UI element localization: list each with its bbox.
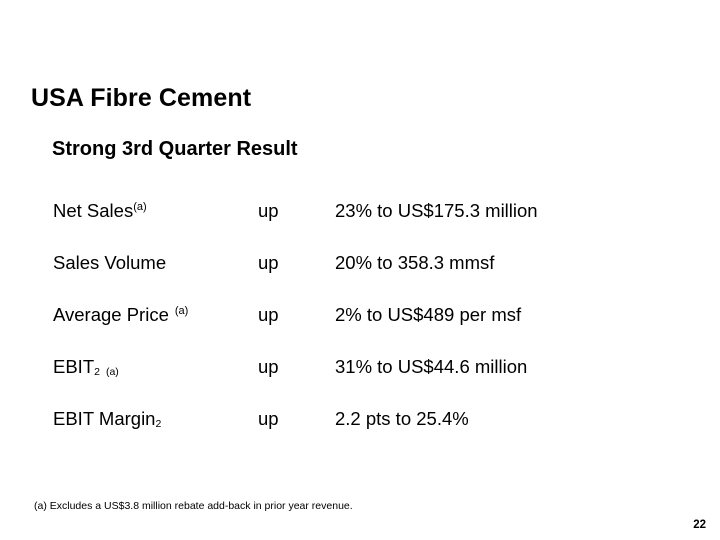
table-row: EBIT Margin2 up 2.2 pts to 25.4% <box>53 408 673 460</box>
row-label: EBIT2(a) <box>53 356 258 378</box>
row-label-superscript: (a) <box>133 201 146 213</box>
row-label-superscript-secondary: (a) <box>106 366 119 378</box>
table-row: EBIT2(a) up 31% to US$44.6 million <box>53 356 673 408</box>
results-table: Net Sales(a) up 23% to US$175.3 million … <box>53 200 673 460</box>
row-label-text: Sales Volume <box>53 252 166 273</box>
footnote: (a) Excludes a US$3.8 million rebate add… <box>34 500 353 512</box>
row-label-superscript: 2 <box>94 366 100 378</box>
table-row: Average Price(a) up 2% to US$489 per msf <box>53 304 673 356</box>
row-label-text: Average Price <box>53 304 169 325</box>
row-label: Average Price(a) <box>53 304 258 326</box>
page-number: 22 <box>693 519 706 531</box>
row-direction: up <box>258 408 335 430</box>
row-label-text: EBIT Margin <box>53 408 155 429</box>
page-title: USA Fibre Cement <box>31 84 251 113</box>
row-direction: up <box>258 200 335 222</box>
table-row: Sales Volume up 20% to 358.3 mmsf <box>53 252 673 304</box>
row-value: 2% to US$489 per msf <box>335 304 521 326</box>
table-row: Net Sales(a) up 23% to US$175.3 million <box>53 200 673 252</box>
row-label: Sales Volume <box>53 252 258 274</box>
row-value: 20% to 358.3 mmsf <box>335 252 494 274</box>
row-label: Net Sales(a) <box>53 200 258 222</box>
row-label-superscript: (a) <box>175 305 188 317</box>
row-direction: up <box>258 304 335 326</box>
row-value: 31% to US$44.6 million <box>335 356 527 378</box>
row-direction: up <box>258 252 335 274</box>
row-label-text: Net Sales <box>53 200 133 221</box>
row-direction: up <box>258 356 335 378</box>
row-label: EBIT Margin2 <box>53 408 258 430</box>
slide-subtitle: Strong 3rd Quarter Result <box>52 138 298 161</box>
row-label-text: EBIT <box>53 356 94 377</box>
row-label-superscript: 2 <box>155 418 161 430</box>
row-value: 2.2 pts to 25.4% <box>335 408 469 430</box>
slide: USA Fibre Cement Strong 3rd Quarter Resu… <box>0 0 720 540</box>
row-value: 23% to US$175.3 million <box>335 200 538 222</box>
